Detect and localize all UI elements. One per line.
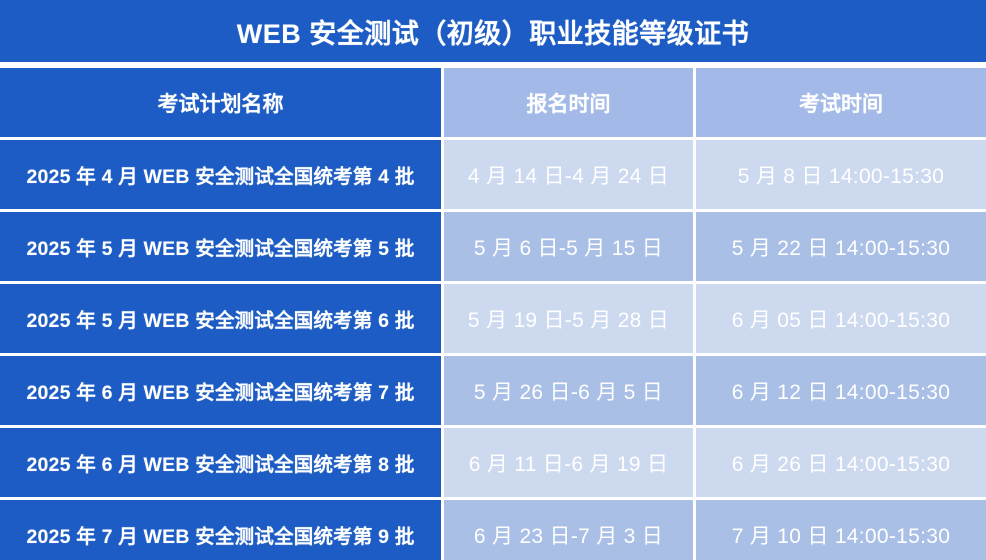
table-body: 2025 年 4 月 WEB 安全测试全国统考第 4 批 4 月 14 日-4 … (0, 140, 986, 560)
cell-plan-name: 2025 年 5 月 WEB 安全测试全国统考第 5 批 (0, 212, 444, 281)
table-row: 2025 年 6 月 WEB 安全测试全国统考第 8 批 6 月 11 日-6 … (0, 428, 986, 497)
cell-registration-time: 5 月 26 日-6 月 5 日 (444, 356, 696, 425)
table-row: 2025 年 6 月 WEB 安全测试全国统考第 7 批 5 月 26 日-6 … (0, 356, 986, 425)
cell-plan-name: 2025 年 5 月 WEB 安全测试全国统考第 6 批 (0, 284, 444, 353)
exam-plan-table: 考试计划名称 报名时间 考试时间 2025 年 4 月 WEB 安全测试全国统考… (0, 65, 986, 560)
cell-exam-time: 5 月 8 日 14:00-15:30 (696, 140, 986, 209)
cell-registration-time: 5 月 19 日-5 月 28 日 (444, 284, 696, 353)
table-row: 2025 年 7 月 WEB 安全测试全国统考第 9 批 6 月 23 日-7 … (0, 500, 986, 560)
table-row: 2025 年 5 月 WEB 安全测试全国统考第 5 批 5 月 6 日-5 月… (0, 212, 986, 281)
table-header: 考试计划名称 报名时间 考试时间 (0, 68, 986, 137)
certificate-exam-schedule-page: WEB 安全测试（初级）职业技能等级证书 考试计划名称 报名时间 考试时间 20… (0, 0, 986, 560)
cell-exam-time: 6 月 26 日 14:00-15:30 (696, 428, 986, 497)
cell-exam-time: 5 月 22 日 14:00-15:30 (696, 212, 986, 281)
cell-registration-time: 5 月 6 日-5 月 15 日 (444, 212, 696, 281)
table-row: 2025 年 5 月 WEB 安全测试全国统考第 6 批 5 月 19 日-5 … (0, 284, 986, 353)
cell-plan-name: 2025 年 4 月 WEB 安全测试全国统考第 4 批 (0, 140, 444, 209)
table-header-row: 考试计划名称 报名时间 考试时间 (0, 68, 986, 137)
cell-registration-time: 6 月 23 日-7 月 3 日 (444, 500, 696, 560)
cell-plan-name: 2025 年 6 月 WEB 安全测试全国统考第 8 批 (0, 428, 444, 497)
table-row: 2025 年 4 月 WEB 安全测试全国统考第 4 批 4 月 14 日-4 … (0, 140, 986, 209)
column-header-registration-time: 报名时间 (444, 68, 696, 137)
cell-plan-name: 2025 年 7 月 WEB 安全测试全国统考第 9 批 (0, 500, 444, 560)
cell-exam-time: 6 月 12 日 14:00-15:30 (696, 356, 986, 425)
cell-plan-name: 2025 年 6 月 WEB 安全测试全国统考第 7 批 (0, 356, 444, 425)
cell-exam-time: 6 月 05 日 14:00-15:30 (696, 284, 986, 353)
cell-registration-time: 4 月 14 日-4 月 24 日 (444, 140, 696, 209)
column-header-exam-time: 考试时间 (696, 68, 986, 137)
cell-exam-time: 7 月 10 日 14:00-15:30 (696, 500, 986, 560)
cell-registration-time: 6 月 11 日-6 月 19 日 (444, 428, 696, 497)
page-title: WEB 安全测试（初级）职业技能等级证书 (237, 12, 750, 51)
column-header-plan-name: 考试计划名称 (0, 68, 444, 137)
title-banner: WEB 安全测试（初级）职业技能等级证书 (0, 0, 986, 62)
